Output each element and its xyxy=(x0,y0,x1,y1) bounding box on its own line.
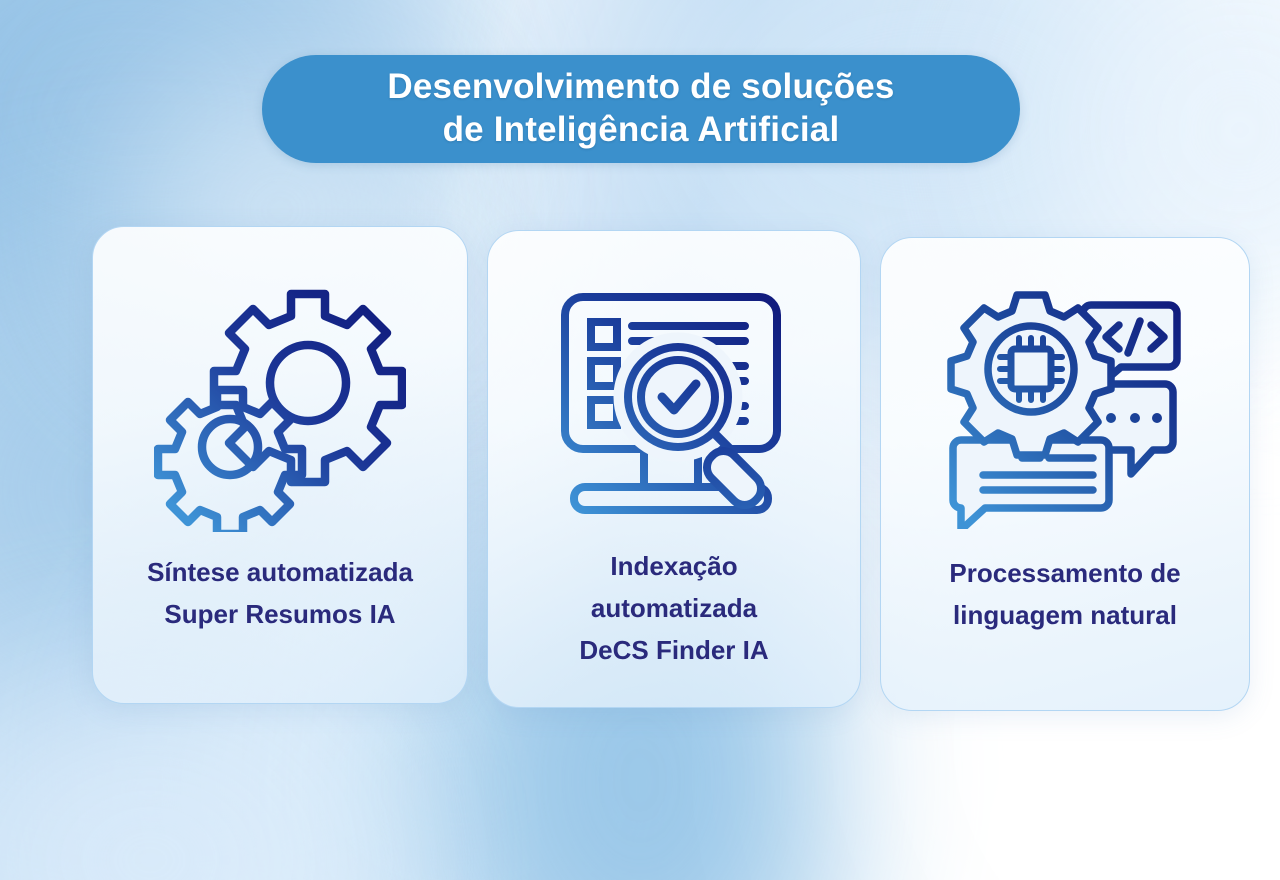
card-sintese-automatizada[interactable]: Síntese automatizada Super Resumos IA xyxy=(92,226,468,704)
card-processamento-linguagem-natural[interactable]: Processamento de linguagem natural xyxy=(880,237,1250,711)
monitor-search-checklist-icon xyxy=(552,275,796,537)
card-indexacao-automatizada[interactable]: Indexação automatizada DeCS Finder IA xyxy=(487,230,861,708)
title-banner: Desenvolvimento de soluções de Inteligên… xyxy=(262,55,1020,163)
card-label: Processamento de linguagem natural xyxy=(935,552,1194,636)
gear-chip-chat-bubbles-icon xyxy=(943,276,1187,538)
infographic-canvas: Desenvolvimento de soluções de Inteligên… xyxy=(0,0,1280,880)
card-label: Síntese automatizada Super Resumos IA xyxy=(133,551,427,635)
page-title: Desenvolvimento de soluções de Inteligên… xyxy=(387,66,894,151)
two-gears-icon xyxy=(154,273,406,539)
card-label: Indexação automatizada DeCS Finder IA xyxy=(565,545,782,671)
